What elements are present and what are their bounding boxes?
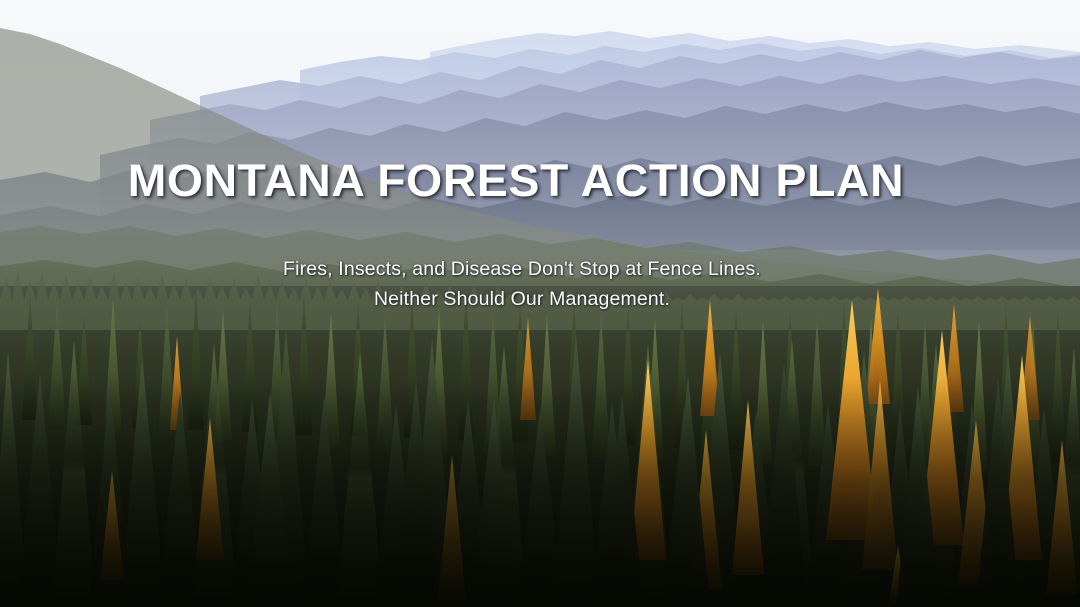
title-slide: MONTANA FOREST ACTION PLAN Fires, Insect… — [0, 0, 1080, 607]
subtitle-line-1: Fires, Insects, and Disease Don't Stop a… — [0, 254, 1044, 284]
page-title: MONTANA FOREST ACTION PLAN — [128, 158, 905, 204]
title-block: MONTANA FOREST ACTION PLAN — [0, 158, 1032, 204]
subtitle-block: Fires, Insects, and Disease Don't Stop a… — [0, 254, 1044, 314]
forest-shadow-overlay — [0, 377, 1080, 607]
subtitle-line-2: Neither Should Our Management. — [0, 284, 1044, 314]
